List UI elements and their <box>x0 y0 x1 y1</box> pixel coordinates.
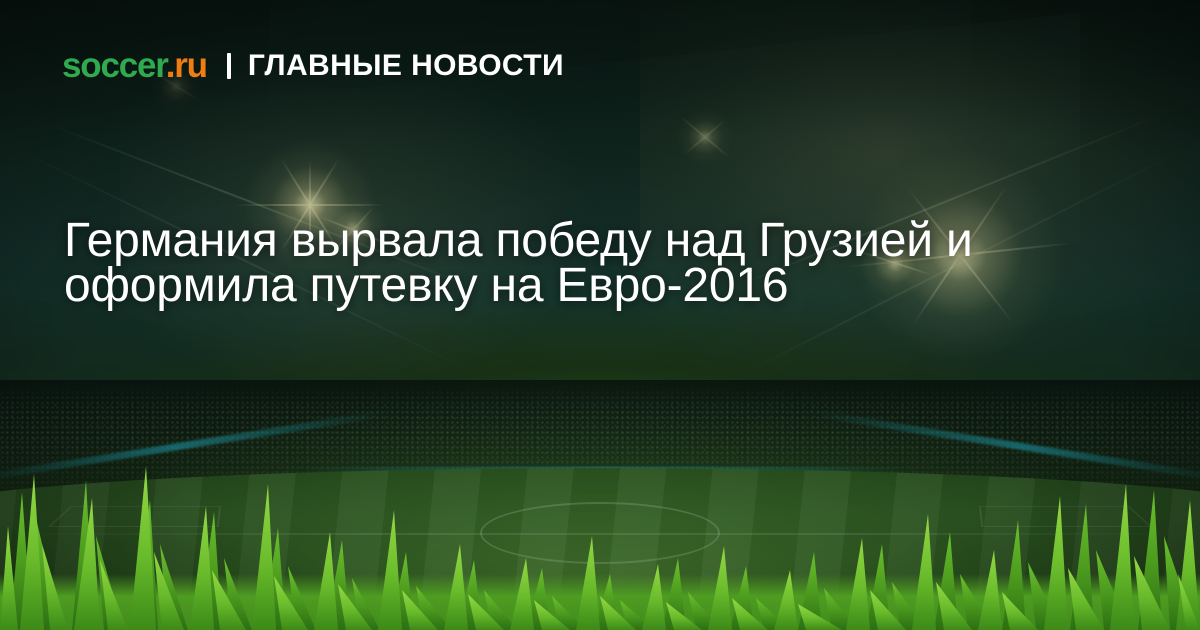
logo-text-suffix: .ru <box>166 46 207 85</box>
article-headline: Германия вырвала победу над Грузией и оф… <box>64 218 1004 308</box>
foreground-grass <box>0 440 1200 630</box>
grass-blades-illustration <box>0 440 1200 630</box>
site-header: soccer.ru ГЛАВНЫЕ НОВОСТИ <box>62 48 564 83</box>
site-logo[interactable]: soccer.ru <box>62 48 207 83</box>
logo-text-primary: soccer <box>62 46 166 85</box>
news-share-card: soccer.ru ГЛАВНЫЕ НОВОСТИ Германия вырва… <box>0 0 1200 630</box>
header-separator <box>227 53 231 79</box>
header-kicker: ГЛАВНЫЕ НОВОСТИ <box>248 51 564 81</box>
